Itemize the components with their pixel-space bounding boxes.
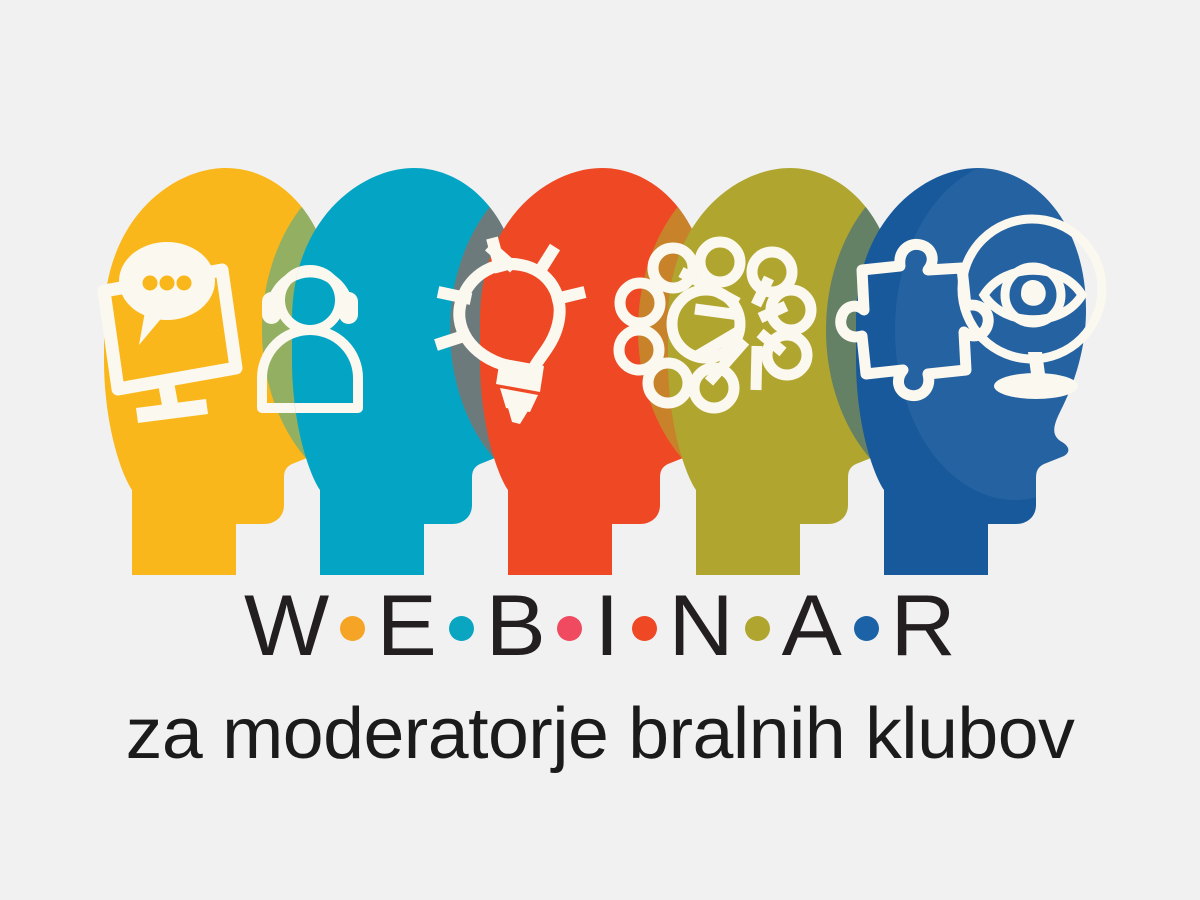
wordmark-letter-a: A [782, 583, 842, 669]
wordmark-dot-1 [340, 616, 365, 641]
wordmark-dot-2 [449, 616, 474, 641]
wordmark-letter-r: R [890, 583, 955, 669]
wordmark: W E B I N A R [0, 583, 1200, 669]
wordmark-letter-n: N [669, 583, 734, 669]
poster-canvas: W E B I N A R za moderatorje bralnih klu… [0, 0, 1200, 900]
head-vision [841, 160, 1135, 575]
wordmark-letter-w: W [244, 583, 329, 669]
wordmark-letter-i: I [595, 583, 620, 669]
wordmark-letter-e: E [377, 583, 437, 669]
wordmark-dot-4 [632, 616, 657, 641]
speech-bubble-dots-icon [143, 276, 192, 291]
wordmark-dot-6 [854, 616, 879, 641]
wordmark-letter-b: B [485, 583, 545, 669]
wordmark-dot-3 [557, 616, 582, 641]
wordmark-dot-5 [745, 616, 770, 641]
subtitle: za moderatorje bralnih klubov [0, 690, 1200, 778]
